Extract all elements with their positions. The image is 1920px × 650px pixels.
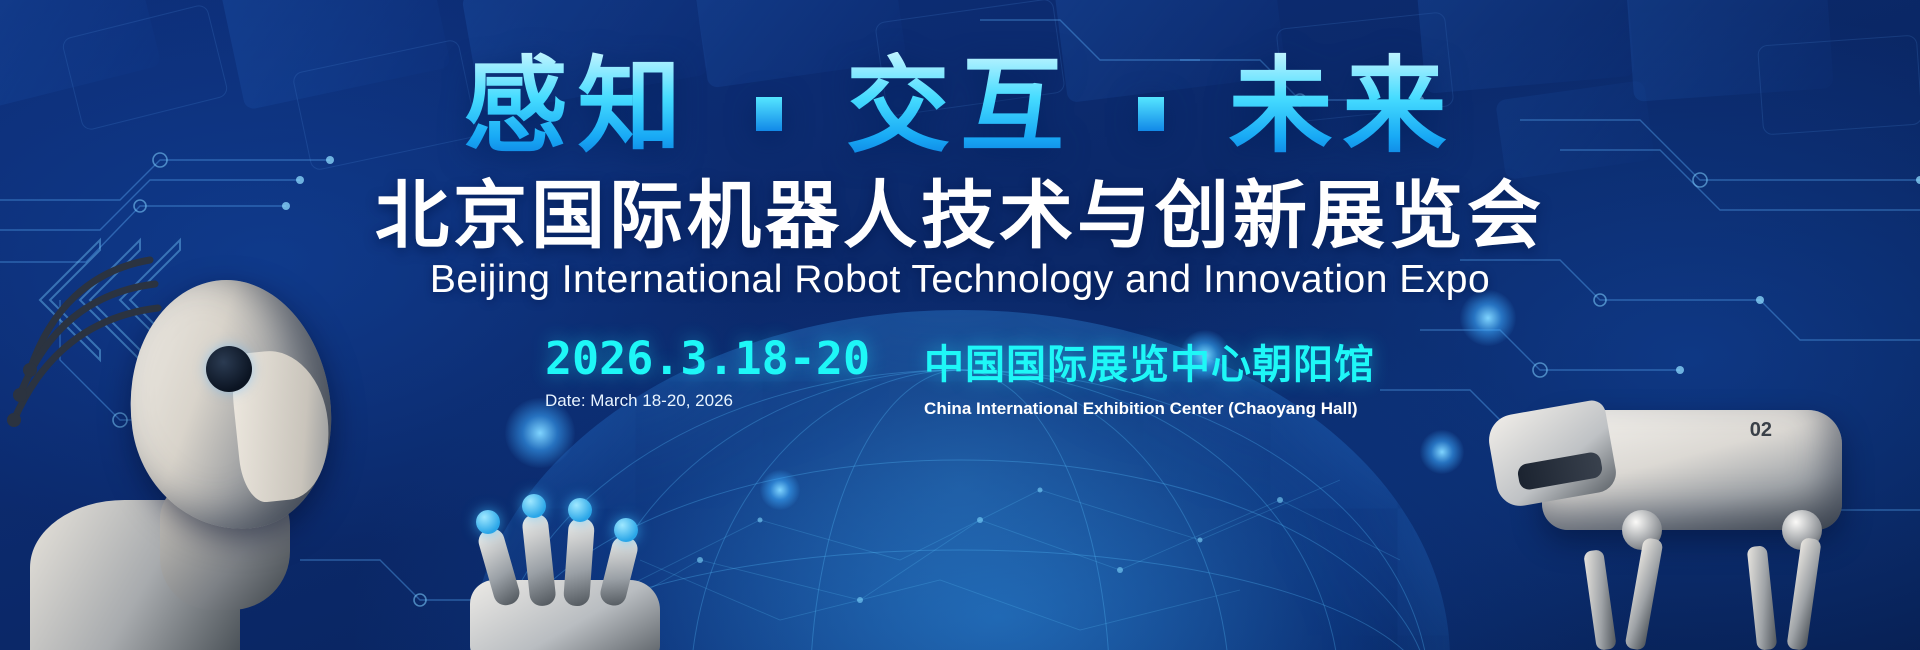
event-title-cn: 北京国际机器人技术与创新展览会 (0, 176, 1920, 257)
venue-block: 中国国际展览中心朝阳馆 China International Exhibiti… (924, 332, 1375, 419)
venue-caption: China International Exhibition Center (C… (924, 399, 1375, 419)
slogan-part-1: 感知 (464, 45, 692, 167)
slogan-part-2: 交互 (846, 45, 1074, 167)
date-block: 2026.3.18-20 Date: March 18-20, 2026 (545, 332, 870, 411)
banner-content: 感知 交互 未来 北京国际机器人技术与创新展览会 Beijing Interna… (0, 0, 1920, 650)
event-title-en: Beijing International Robot Technology a… (0, 258, 1920, 302)
event-info-row: 2026.3.18-20 Date: March 18-20, 2026 中国国… (0, 332, 1920, 419)
headline-slogan: 感知 交互 未来 (0, 52, 1920, 161)
date-caption: Date: March 18-20, 2026 (545, 391, 870, 411)
slogan-part-3: 未来 (1228, 45, 1456, 167)
slogan-separator-icon (756, 97, 782, 131)
slogan-separator-icon (1138, 97, 1164, 131)
expo-banner: 感知 交互 未来 北京国际机器人技术与创新展览会 Beijing Interna… (0, 0, 1920, 650)
date-value: 2026.3.18-20 (545, 332, 870, 385)
venue-value: 中国国际展览中心朝阳馆 (924, 332, 1375, 390)
